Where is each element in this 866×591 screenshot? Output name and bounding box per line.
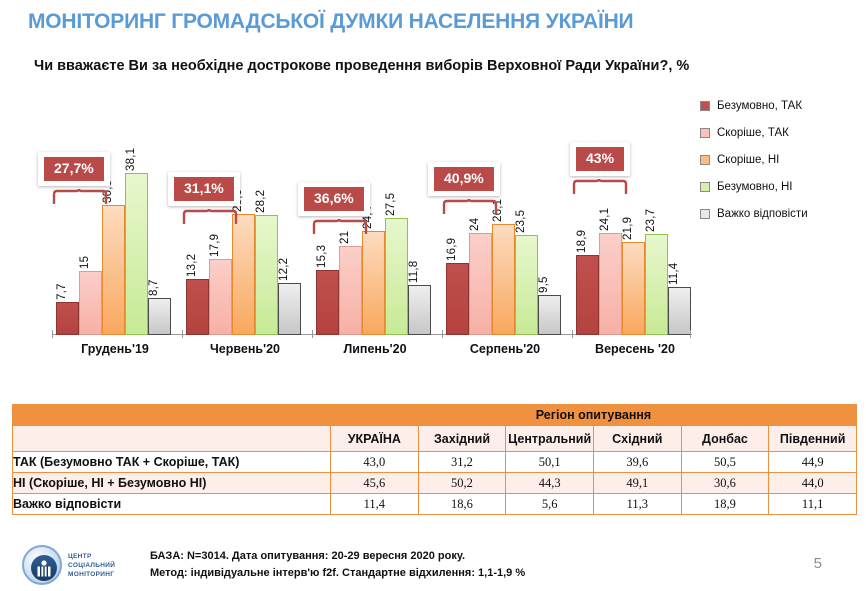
bar[interactable]: 12,2 xyxy=(278,283,301,335)
table-cell: 50,1 xyxy=(506,452,594,473)
legend-item-label: Безумовно, НІ xyxy=(717,181,793,193)
organization-logo: ЦЕНТРСОЦІАЛЬНИЙМОНІТОРИНГ xyxy=(22,544,140,586)
table-row-label: НІ (Скоріше, НІ + Безумовно НІ) xyxy=(13,473,331,494)
table-cell: 31,2 xyxy=(418,452,506,473)
bar-value-label: 38,1 xyxy=(125,148,137,171)
bar[interactable]: 7,7 xyxy=(56,302,79,335)
table-cell: 50,5 xyxy=(681,452,769,473)
x-axis-tick-label: Вересень '20 xyxy=(576,342,694,356)
table-cell: 11,1 xyxy=(769,494,857,515)
bar-value-label: 24,1 xyxy=(599,208,611,231)
table-row: ТАК (Безумовно ТАК + Скоріше, ТАК)43,031… xyxy=(13,452,857,473)
table-cell: 43,0 xyxy=(331,452,419,473)
bar-value-label: 9,5 xyxy=(538,276,550,293)
bar[interactable]: 23,7 xyxy=(645,234,668,335)
logo-text: ЦЕНТРСОЦІАЛЬНИЙМОНІТОРИНГ xyxy=(68,553,115,579)
bar-value-label: 23,5 xyxy=(515,210,527,233)
table-cell: 11,3 xyxy=(593,494,681,515)
legend-swatch-icon xyxy=(700,128,710,138)
slide-footer: ЦЕНТРСОЦІАЛЬНИЙМОНІТОРИНГ БАЗА: N=3014. … xyxy=(0,540,866,591)
slide-root: МОНІТОРИНГ ГРОМАДСЬКОЇ ДУМКИ НАСЕЛЕННЯ У… xyxy=(0,0,866,591)
table-row-label: Важко відповісти xyxy=(13,494,331,515)
table-column-header: Східний xyxy=(593,426,681,452)
table-cell: 39,6 xyxy=(593,452,681,473)
legend-swatch-icon xyxy=(700,209,710,219)
bar-value-label: 17,9 xyxy=(209,234,221,257)
table-band-title: Регіон опитування xyxy=(331,405,857,426)
callout-brace-icon xyxy=(312,218,368,234)
bar[interactable]: 11,8 xyxy=(408,285,431,335)
bar-value-label: 13,2 xyxy=(186,254,198,277)
bar-group: 18,924,121,923,711,4 xyxy=(576,90,694,335)
chart-question-title: Чи вважаєте Ви за необхідне дострокове п… xyxy=(34,58,689,74)
table-cell: 50,2 xyxy=(418,473,506,494)
table-row: Важко відповісти11,418,65,611,318,911,1 xyxy=(13,494,857,515)
bar-slot: 15 xyxy=(79,90,102,335)
yes-total-callout: 40,9% xyxy=(428,162,500,196)
bar-slot: 7,7 xyxy=(56,90,79,335)
legend-item-label: Безумовно, ТАК xyxy=(717,100,802,112)
bar[interactable]: 27,5 xyxy=(385,218,408,335)
bar[interactable]: 28,2 xyxy=(255,215,278,335)
bar-group-bars: 7,71530,538,18,7 xyxy=(56,90,174,335)
table-cell: 18,6 xyxy=(418,494,506,515)
yes-total-callout-value: 40,9% xyxy=(434,167,494,191)
bar-slot: 28,2 xyxy=(255,90,278,335)
bar-value-label: 8,7 xyxy=(148,279,160,296)
bar-slot: 23,5 xyxy=(515,90,538,335)
bar[interactable]: 26,1 xyxy=(492,224,515,335)
bar-value-label: 21,9 xyxy=(622,217,634,240)
logo-text-line: МОНІТОРИНГ xyxy=(68,571,115,580)
legend-item-label: Скоріше, ТАК xyxy=(717,127,789,139)
legend-item-label: Важко відповісти xyxy=(717,208,808,220)
table-column-header: Донбас xyxy=(681,426,769,452)
x-axis-tick-label: Грудень'19 xyxy=(56,342,174,356)
table-cell: 44,0 xyxy=(769,473,857,494)
x-axis-tick xyxy=(182,330,183,338)
page-title: МОНІТОРИНГ ГРОМАДСЬКОЇ ДУМКИ НАСЕЛЕННЯ У… xyxy=(28,10,633,34)
logo-circle-icon xyxy=(22,545,62,585)
bar-slot: 18,9 xyxy=(576,90,599,335)
bar-slot: 30,5 xyxy=(102,90,125,335)
bar-slot: 8,7 xyxy=(148,90,171,335)
table-row-label: ТАК (Безумовно ТАК + Скоріше, ТАК) xyxy=(13,452,331,473)
bar-value-label: 28,2 xyxy=(255,190,267,213)
bar[interactable]: 30,5 xyxy=(102,205,125,335)
bar[interactable]: 21 xyxy=(339,246,362,335)
callout-brace-icon xyxy=(182,208,238,224)
table-row: НІ (Скоріше, НІ + Безумовно НІ)45,650,24… xyxy=(13,473,857,494)
bar-chart: 7,71530,538,18,727,7%13,217,928,528,212,… xyxy=(10,90,700,365)
legend-swatch-icon xyxy=(700,101,710,111)
yes-total-callout-value: 36,6% xyxy=(304,187,364,211)
methodology-line-1: БАЗА: N=3014. Дата опитування: 20-29 вер… xyxy=(150,548,525,565)
table-band-row: Регіон опитування xyxy=(13,405,857,426)
chart-legend: Безумовно, ТАКСкоріше, ТАКСкоріше, НІБез… xyxy=(700,92,860,227)
logo-text-line: ЦЕНТР xyxy=(68,553,115,562)
bar-slot: 11,4 xyxy=(668,90,691,335)
bar[interactable]: 8,7 xyxy=(148,298,171,335)
table-cell: 11,4 xyxy=(331,494,419,515)
x-axis-tick xyxy=(52,330,53,338)
bar[interactable]: 38,1 xyxy=(125,173,148,335)
x-axis-tick xyxy=(690,330,691,338)
bar-value-label: 15,3 xyxy=(316,245,328,268)
bar[interactable]: 24,4 xyxy=(362,231,385,335)
table-cell: 45,6 xyxy=(331,473,419,494)
yes-total-callout: 43% xyxy=(570,142,630,176)
table-header-row: УКРАЇНАЗахіднийЦентральнийСхіднийДонбасП… xyxy=(13,426,857,452)
table-column-header: Південний xyxy=(769,426,857,452)
legend-item: Скоріше, НІ xyxy=(700,146,860,173)
bar-value-label: 27,5 xyxy=(385,193,397,216)
legend-item: Безумовно, НІ xyxy=(700,173,860,200)
bar[interactable]: 24 xyxy=(469,233,492,335)
bar[interactable]: 15 xyxy=(79,271,102,335)
table-cell: 18,9 xyxy=(681,494,769,515)
bar-slot: 23,7 xyxy=(645,90,668,335)
table-band-spacer xyxy=(13,405,331,426)
bar-slot: 21,9 xyxy=(622,90,645,335)
legend-swatch-icon xyxy=(700,155,710,165)
bar-slot: 24,1 xyxy=(599,90,622,335)
chart-plot-area: 7,71530,538,18,727,7%13,217,928,528,212,… xyxy=(10,90,700,335)
legend-swatch-icon xyxy=(700,182,710,192)
legend-item: Скоріше, ТАК xyxy=(700,119,860,146)
bar-value-label: 23,7 xyxy=(645,209,657,232)
bar-slot: 9,5 xyxy=(538,90,561,335)
methodology-line-2: Метод: індивідуальне інтерв'ю f2f. Станд… xyxy=(150,565,525,582)
bar[interactable]: 9,5 xyxy=(538,295,561,335)
yes-total-callout: 31,1% xyxy=(168,172,240,206)
bar-group-bars: 18,924,121,923,711,4 xyxy=(576,90,694,335)
yes-total-callout-value: 43% xyxy=(576,147,624,171)
bar-value-label: 24 xyxy=(469,218,481,231)
x-axis-tick xyxy=(442,330,443,338)
bar[interactable]: 15,3 xyxy=(316,270,339,335)
legend-item: Важко відповісти xyxy=(700,200,860,227)
x-axis-tick xyxy=(572,330,573,338)
bar[interactable]: 11,4 xyxy=(668,287,691,335)
yes-total-callout-value: 27,7% xyxy=(44,157,104,181)
yes-total-callout: 27,7% xyxy=(38,152,110,186)
bar[interactable]: 17,9 xyxy=(209,259,232,335)
bar[interactable]: 13,2 xyxy=(186,279,209,335)
yes-total-callout-value: 31,1% xyxy=(174,177,234,201)
bar-group: 7,71530,538,18,7 xyxy=(56,90,174,335)
x-axis-tick-label: Липень'20 xyxy=(316,342,434,356)
table-cell: 49,1 xyxy=(593,473,681,494)
table-column-header: Західний xyxy=(418,426,506,452)
bar-value-label: 16,9 xyxy=(446,238,458,261)
bar-value-label: 7,7 xyxy=(56,283,68,300)
bar[interactable]: 24,1 xyxy=(599,233,622,335)
callout-brace-icon xyxy=(442,198,498,214)
legend-item-label: Скоріше, НІ xyxy=(717,154,779,166)
x-axis-tick xyxy=(312,330,313,338)
x-axis-tick-label: Червень'20 xyxy=(186,342,304,356)
bar-slot: 11,8 xyxy=(408,90,431,335)
page-number: 5 xyxy=(814,555,822,572)
region-table-wrapper: Регіон опитування УКРАЇНАЗахіднийЦентрал… xyxy=(12,404,857,515)
methodology-note: БАЗА: N=3014. Дата опитування: 20-29 вер… xyxy=(150,548,525,582)
callout-brace-icon xyxy=(52,188,108,204)
table-cell: 5,6 xyxy=(506,494,594,515)
callout-brace-icon xyxy=(572,178,628,194)
legend-item: Безумовно, ТАК xyxy=(700,92,860,119)
bar[interactable]: 21,9 xyxy=(622,242,645,335)
yes-total-callout: 36,6% xyxy=(298,182,370,216)
table-cell: 44,9 xyxy=(769,452,857,473)
logo-pillar-icon xyxy=(35,560,53,577)
bar-value-label: 18,9 xyxy=(576,230,588,253)
bar[interactable]: 28,5 xyxy=(232,214,255,335)
bar-value-label: 11,4 xyxy=(668,263,680,285)
table-cell: 44,3 xyxy=(506,473,594,494)
table-header-blank xyxy=(13,426,331,452)
bar[interactable]: 18,9 xyxy=(576,255,599,335)
table-column-header: Центральний xyxy=(506,426,594,452)
bar-value-label: 15 xyxy=(79,256,91,269)
table-cell: 30,6 xyxy=(681,473,769,494)
bar[interactable]: 23,5 xyxy=(515,235,538,335)
x-axis-labels: Грудень'19Червень'20Липень'20Серпень'20В… xyxy=(10,338,700,364)
bar-value-label: 11,8 xyxy=(408,261,420,283)
region-table: Регіон опитування УКРАЇНАЗахіднийЦентрал… xyxy=(12,404,857,515)
bar-slot: 27,5 xyxy=(385,90,408,335)
bar-slot: 38,1 xyxy=(125,90,148,335)
bar-value-label: 12,2 xyxy=(278,258,290,281)
x-axis-tick-label: Серпень'20 xyxy=(446,342,564,356)
bar[interactable]: 16,9 xyxy=(446,263,469,335)
table-column-header: УКРАЇНА xyxy=(331,426,419,452)
logo-text-line: СОЦІАЛЬНИЙ xyxy=(68,562,115,571)
